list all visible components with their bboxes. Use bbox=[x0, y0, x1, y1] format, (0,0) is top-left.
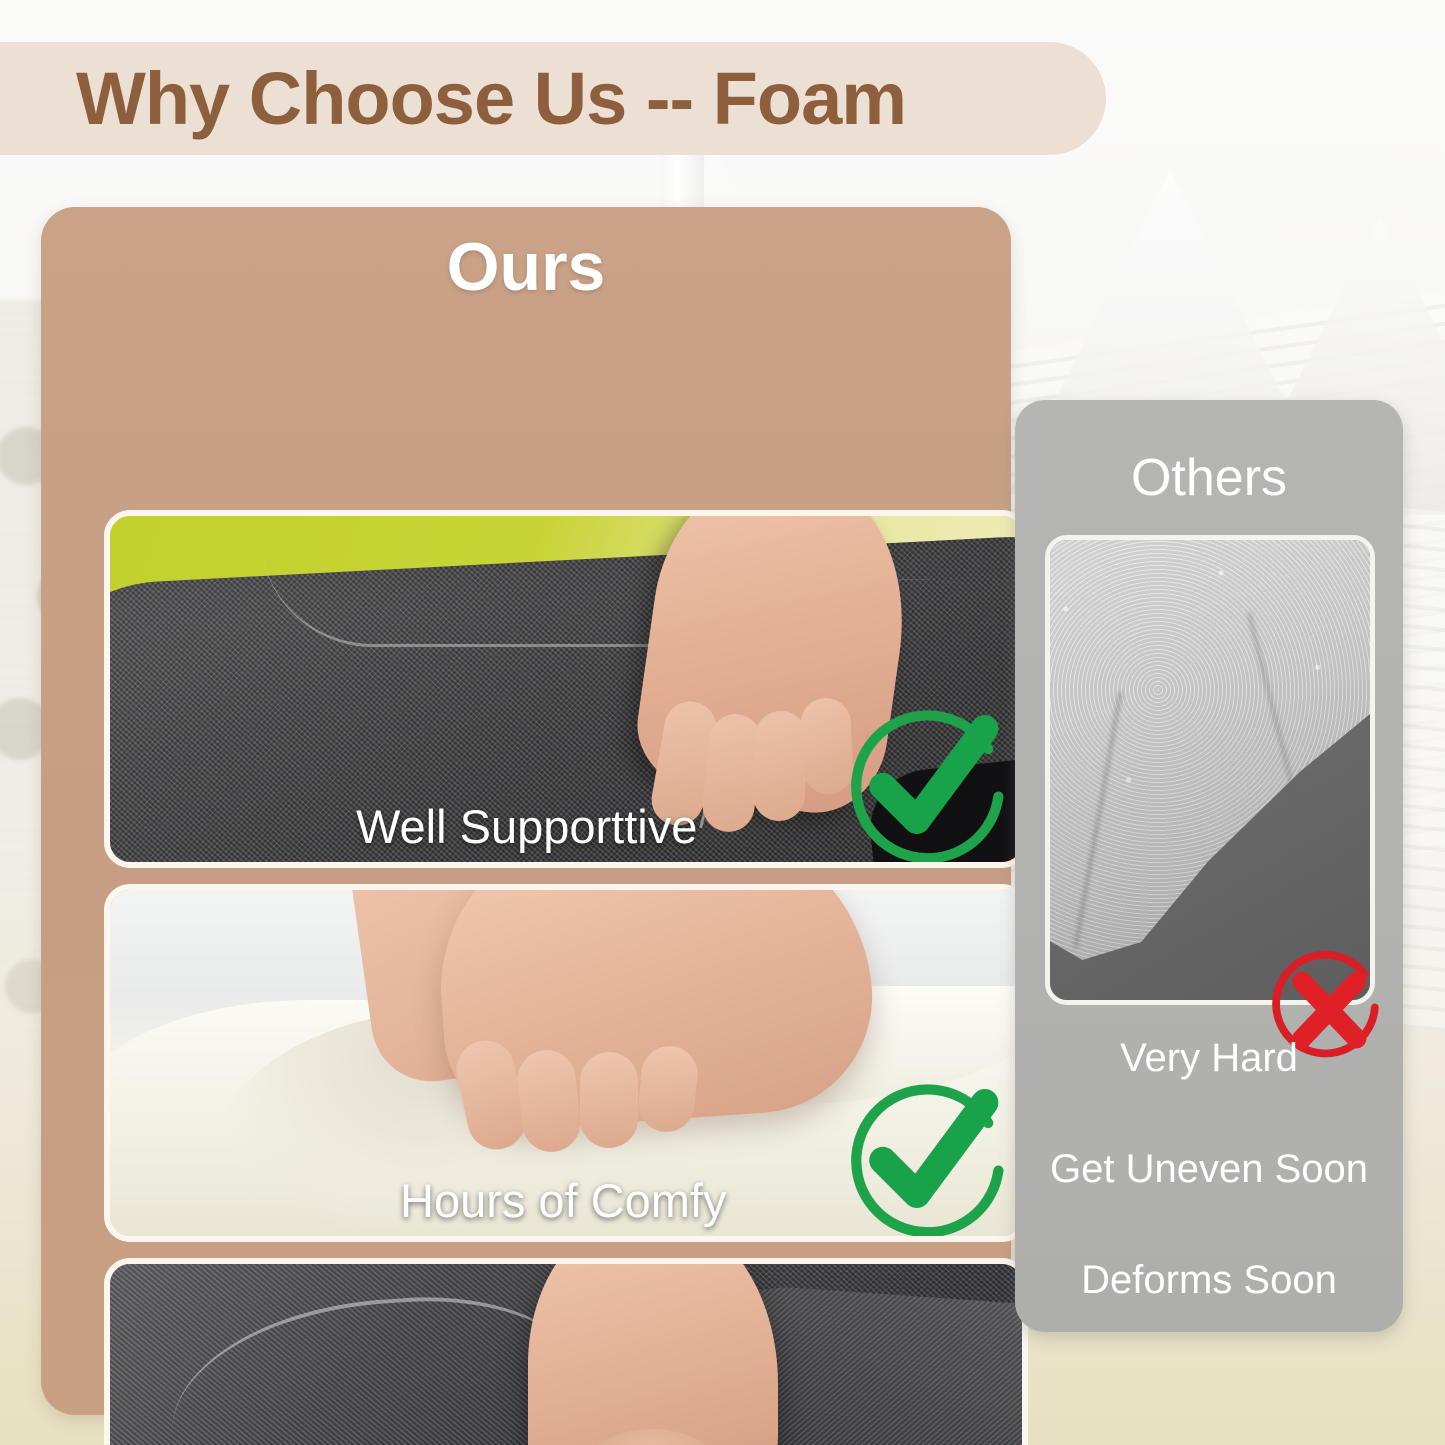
ours-card-2: Hours of Comfy bbox=[104, 884, 1028, 1242]
page-title: Why Choose Us -- Foam bbox=[76, 62, 906, 136]
infographic-root: Why Choose Us -- Foam Ours Well Supportt… bbox=[0, 0, 1445, 1445]
list-item: Very Hard bbox=[1015, 1038, 1403, 1078]
ours-card-1-label: Well Supporttive bbox=[356, 803, 697, 850]
others-panel: Others Very Hard Get Uneven Soon Deforms… bbox=[1015, 400, 1403, 1332]
green-check-icon bbox=[842, 698, 1012, 868]
others-photo bbox=[1045, 535, 1375, 1005]
ours-card-1: Well Supporttive bbox=[104, 510, 1028, 868]
header-banner: Why Choose Us -- Foam bbox=[0, 42, 1106, 155]
ours-card-3: 5-Year-No-Subsidenc bbox=[104, 1258, 1028, 1445]
ours-card-2-label: Hours of Comfy bbox=[400, 1177, 726, 1224]
ours-panel-title: Ours bbox=[41, 233, 1011, 301]
ours-card-3-photo bbox=[110, 1264, 1022, 1445]
green-check-icon bbox=[842, 1072, 1012, 1242]
others-panel-title: Others bbox=[1015, 452, 1403, 504]
ours-panel: Ours Well Supporttive bbox=[41, 207, 1011, 1415]
list-item: Deforms Soon bbox=[1015, 1260, 1403, 1300]
list-item: Get Uneven Soon bbox=[1015, 1149, 1403, 1189]
others-drawback-list: Very Hard Get Uneven Soon Deforms Soon bbox=[1015, 1038, 1403, 1371]
